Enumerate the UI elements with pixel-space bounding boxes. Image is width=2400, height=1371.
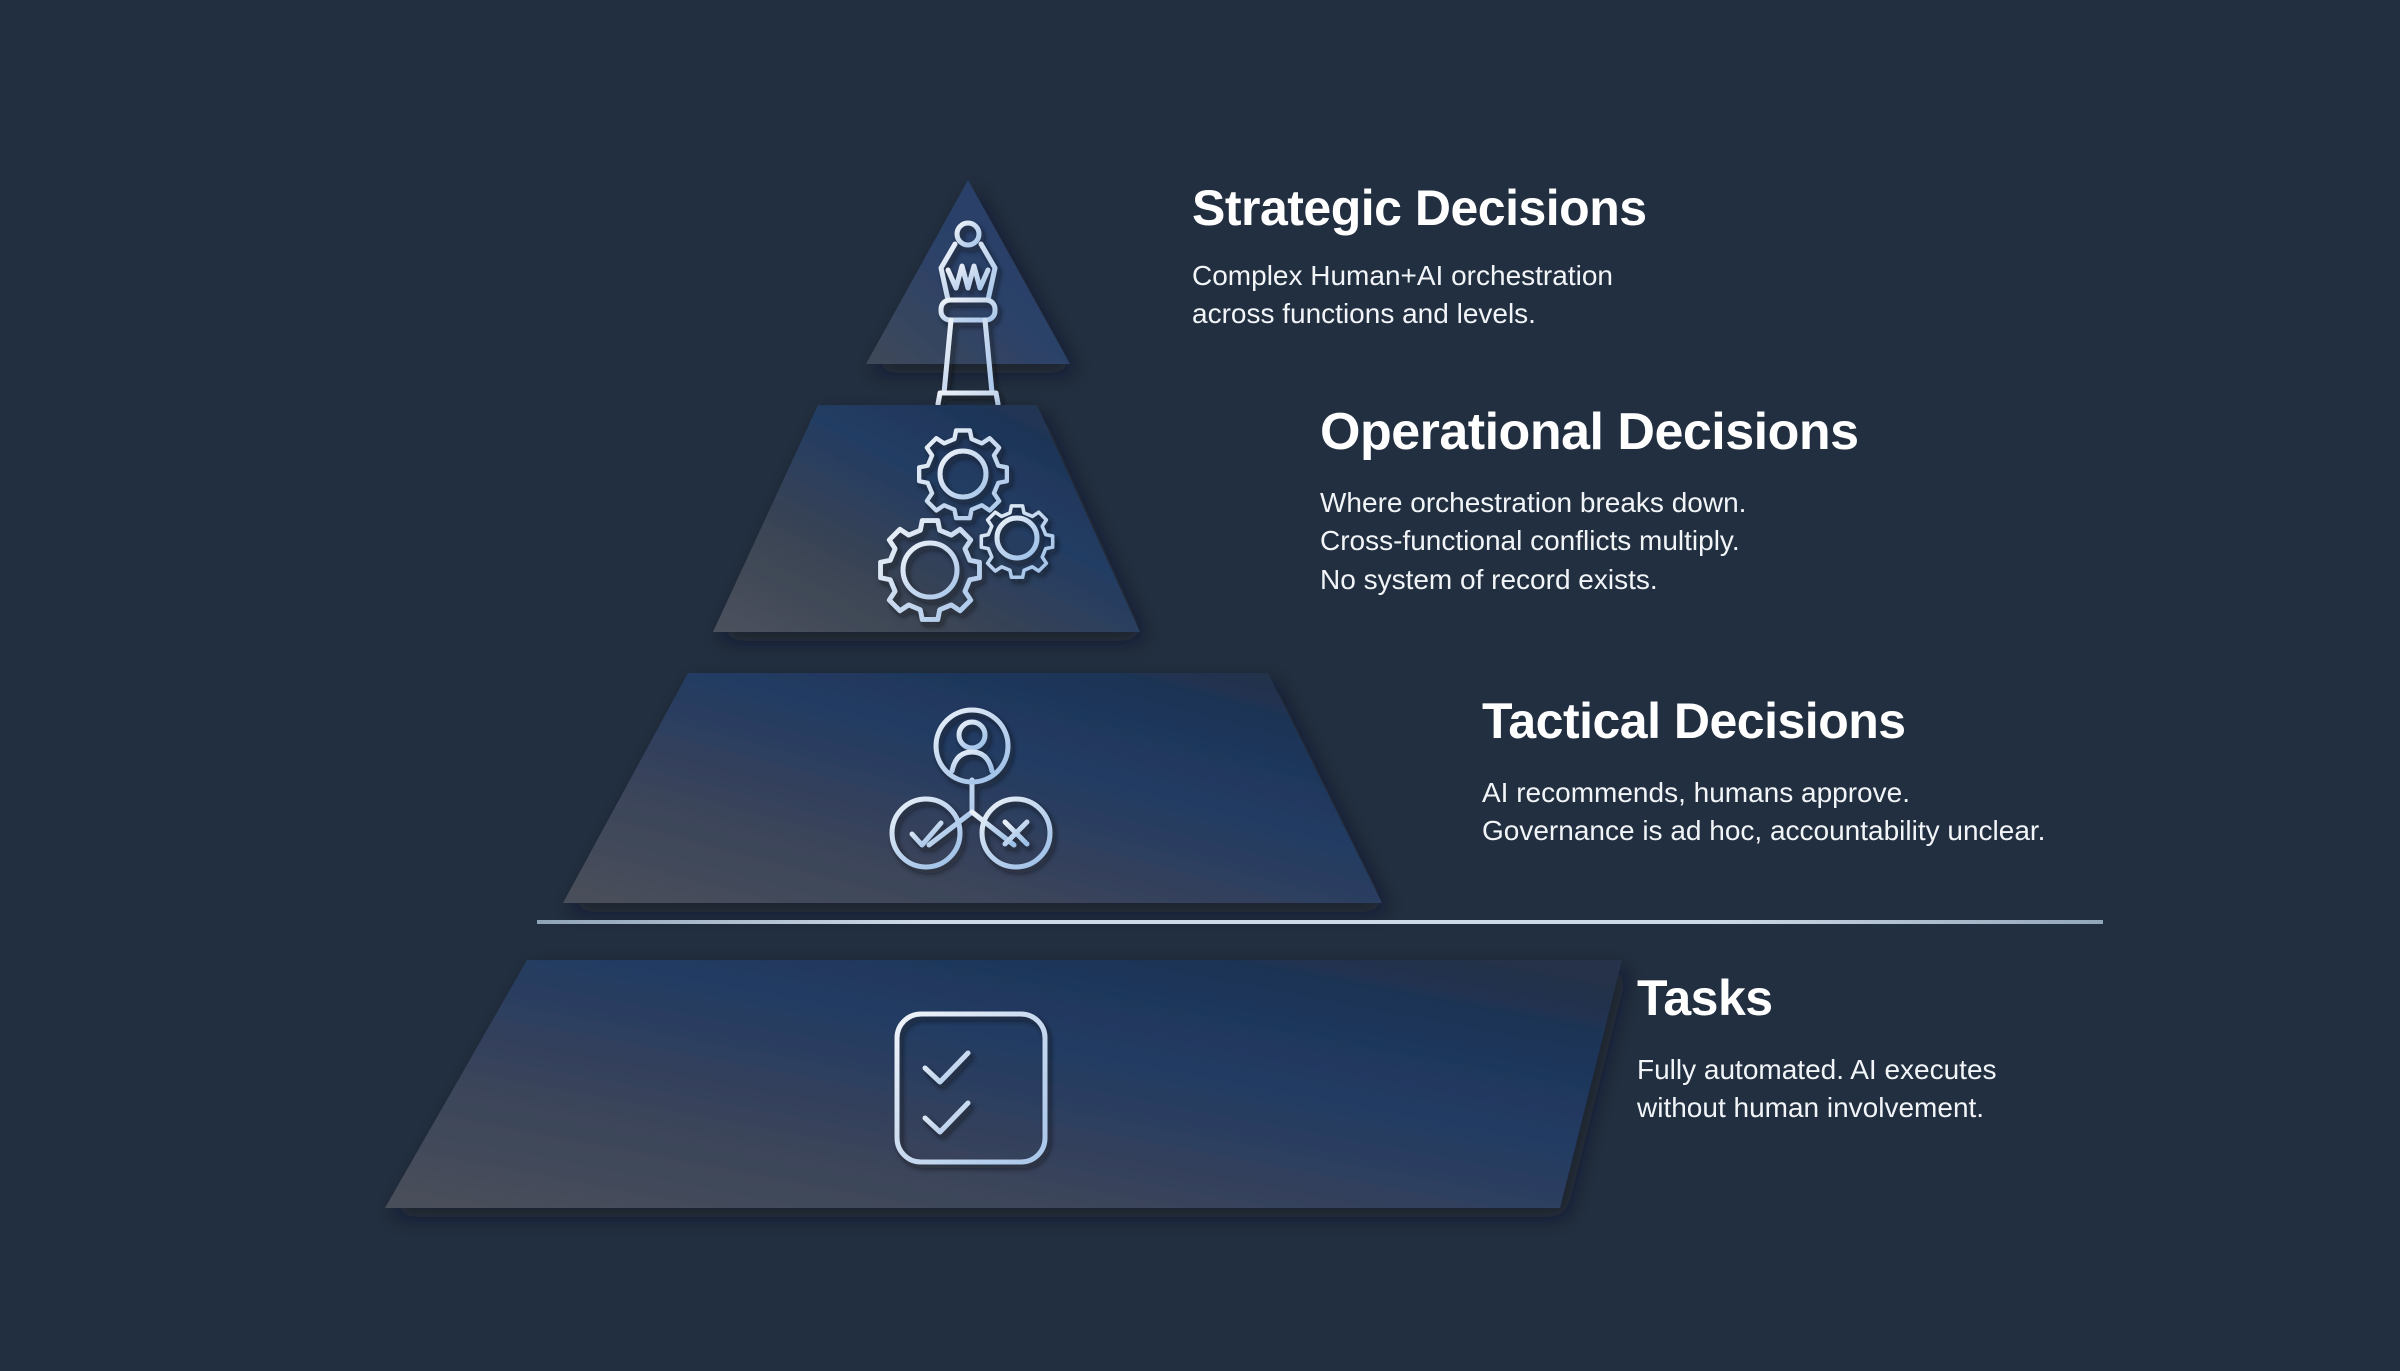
tier-description-strategic: Complex Human+AI orchestration across fu… xyxy=(1192,257,1647,334)
tier-label-tactical: Tactical Decisions AI recommends, humans… xyxy=(1482,695,2045,851)
tier-label-operational: Operational Decisions Where orchestratio… xyxy=(1320,405,1859,599)
tier-label-strategic: Strategic Decisions Complex Human+AI orc… xyxy=(1192,182,1647,334)
tier-title-tactical: Tactical Decisions xyxy=(1482,695,2045,748)
pyramid-tier-operational[interactable] xyxy=(713,405,1140,632)
pyramid-tier-tasks[interactable] xyxy=(385,960,1622,1208)
tier-title-operational: Operational Decisions xyxy=(1320,405,1859,460)
tier-description-tasks: Fully automated. AI executes without hum… xyxy=(1637,1051,1997,1128)
tier-title-tasks: Tasks xyxy=(1637,972,1997,1025)
tier-description-operational: Where orchestration breaks down. Cross-f… xyxy=(1320,484,1859,600)
tier-description-tactical: AI recommends, humans approve. Governanc… xyxy=(1482,774,2045,851)
tier-label-tasks: Tasks Fully automated. AI executes witho… xyxy=(1637,972,1997,1128)
tier-shape-tasks[interactable] xyxy=(385,960,1622,1208)
diagram-canvas: Strategic Decisions Complex Human+AI orc… xyxy=(0,0,2400,1371)
tier-title-strategic: Strategic Decisions xyxy=(1192,182,1647,235)
automation-boundary-divider xyxy=(537,920,2103,924)
pyramid-tier-tactical[interactable] xyxy=(563,673,1382,903)
tier-shape-strategic[interactable] xyxy=(866,180,1070,364)
